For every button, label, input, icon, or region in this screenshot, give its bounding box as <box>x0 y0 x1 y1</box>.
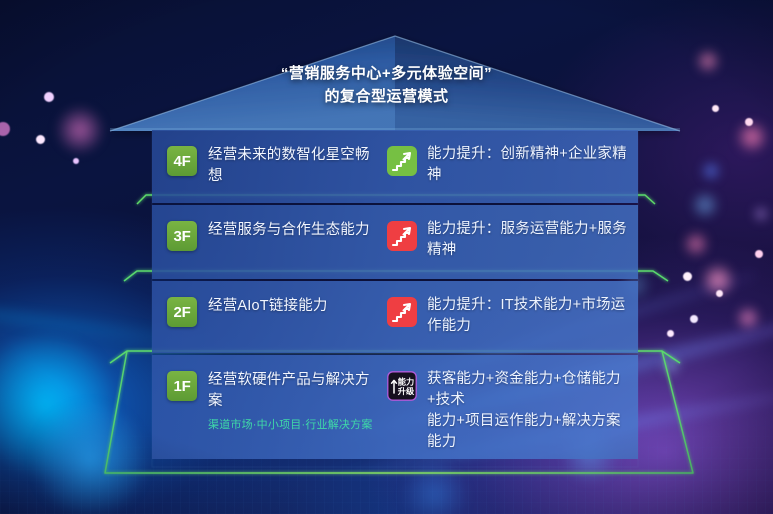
floor-left-column: 4F 经营未来的数智化星空畅想 <box>167 144 379 187</box>
floor-text-block: 经营服务与合作生态能力 <box>208 219 370 251</box>
floor-badge-3f: 3F <box>167 221 197 251</box>
capability-column: 能力提升：创新精神+企业家精神 <box>379 144 628 186</box>
capability-upgrade-badge-icon: 能力 升级 <box>387 371 417 401</box>
floor-text-block: 经营未来的数智化星空畅想 <box>208 144 379 187</box>
capability-text-1f: 获客能力+资金能力+仓储能力+技术 能力+项目运作能力+解决方案能力 <box>427 369 628 453</box>
floor-left-column: 3F 经营服务与合作生态能力 <box>167 219 379 251</box>
floor-text-block: 经营AIoT链接能力 <box>208 295 328 327</box>
floor-title-1f: 经营软硬件产品与解决方案 <box>208 370 379 412</box>
floor-left-column: 1F 经营软硬件产品与解决方案 渠道市场·中小项目·行业解决方案 <box>167 369 379 434</box>
floor-subtitle-1f: 渠道市场·中小项目·行业解决方案 <box>208 417 379 434</box>
floor-left-column: 2F 经营AIoT链接能力 <box>167 295 379 327</box>
floor-badge-2f: 2F <box>167 297 197 327</box>
pyramid-infographic: “营销服务中心+多元体验空间” 的复合型运营模式 4F 经营未来的数智化星空畅想 <box>0 0 773 514</box>
floor-rows: 4F 经营未来的数智化星空畅想 能力提升：创新精神+企业家精神 <box>152 130 638 459</box>
floor-row-1f[interactable]: 1F 经营软硬件产品与解决方案 渠道市场·中小项目·行业解决方案 能力 升级 <box>152 355 638 459</box>
floor-row-3f[interactable]: 3F 经营服务与合作生态能力 能力提升：服务运营能力+服务精神 <box>152 205 638 279</box>
stairs-up-red-icon <box>387 297 417 327</box>
capability-text-4f: 能力提升：创新精神+企业家精神 <box>427 144 628 186</box>
capability-text-3f: 能力提升：服务运营能力+服务精神 <box>427 219 628 261</box>
stairs-up-green-icon <box>387 146 417 176</box>
stairs-up-red-icon <box>387 221 417 251</box>
capability-column: 能力 升级 获客能力+资金能力+仓储能力+技术 能力+项目运作能力+解决方案能力 <box>379 369 628 453</box>
capability-column: 能力提升：服务运营能力+服务精神 <box>379 219 628 261</box>
floor-title-3f: 经营服务与合作生态能力 <box>208 220 370 241</box>
floor-row-4f[interactable]: 4F 经营未来的数智化星空畅想 能力提升：创新精神+企业家精神 <box>152 130 638 203</box>
floor-row-2f[interactable]: 2F 经营AIoT链接能力 能力提升：IT技术能力+市场运作能力 <box>152 281 638 353</box>
floor-title-2f: 经营AIoT链接能力 <box>208 296 328 317</box>
badge-label-line1: 能力 <box>398 377 414 387</box>
capability-column: 能力提升：IT技术能力+市场运作能力 <box>379 295 628 337</box>
floor-badge-1f: 1F <box>167 371 197 401</box>
floor-badge-4f: 4F <box>167 146 197 176</box>
floor-text-block: 经营软硬件产品与解决方案 渠道市场·中小项目·行业解决方案 <box>208 369 379 434</box>
capability-text-2f: 能力提升：IT技术能力+市场运作能力 <box>427 295 628 337</box>
badge-label-line2: 升级 <box>398 386 415 396</box>
floor-title-4f: 经营未来的数智化星空畅想 <box>208 145 379 187</box>
